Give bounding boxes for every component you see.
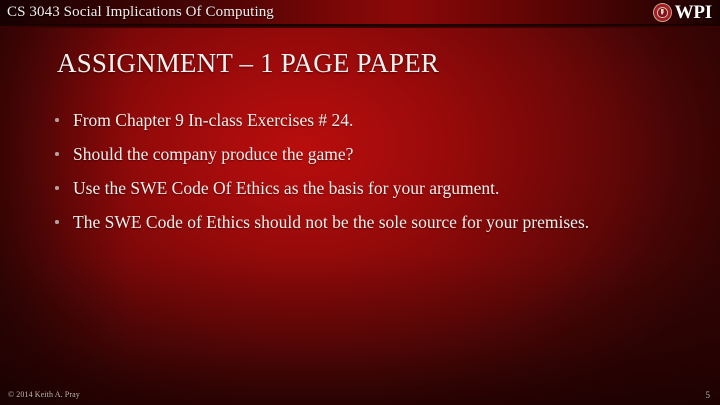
list-item-label: From Chapter 9 In-class Exercises # 24. (73, 109, 655, 131)
list-item-label: Should the company produce the game? (73, 143, 655, 165)
header-divider (0, 24, 720, 28)
list-item: Use the SWE Code Of Ethics as the basis … (55, 177, 655, 199)
presentation-slide: CS 3043 Social Implications Of Computing… (0, 0, 720, 405)
bullet-list: From Chapter 9 In-class Exercises # 24. … (55, 109, 655, 245)
wpi-seal-icon (653, 3, 672, 22)
list-item: From Chapter 9 In-class Exercises # 24. (55, 109, 655, 131)
wpi-wordmark: WPI (675, 3, 712, 22)
bullet-dot-icon (55, 211, 73, 224)
course-title: CS 3043 Social Implications Of Computing (7, 2, 274, 22)
list-item: Should the company produce the game? (55, 143, 655, 165)
list-item-label: The SWE Code of Ethics should not be the… (73, 211, 655, 233)
bullet-dot-icon (55, 109, 73, 122)
copyright-notice: © 2014 Keith A. Pray (8, 390, 80, 400)
list-item-label: Use the SWE Code Of Ethics as the basis … (73, 177, 655, 199)
bullet-dot-icon (55, 177, 73, 190)
bullet-dot-icon (55, 143, 73, 156)
list-item: The SWE Code of Ethics should not be the… (55, 211, 655, 233)
slide-background-bottom-shade (0, 255, 720, 405)
slide-page-number: 5 (706, 390, 711, 400)
wpi-logo: WPI (653, 1, 712, 23)
slide-title: ASSIGNMENT – 1 PAGE PAPER (57, 48, 439, 78)
